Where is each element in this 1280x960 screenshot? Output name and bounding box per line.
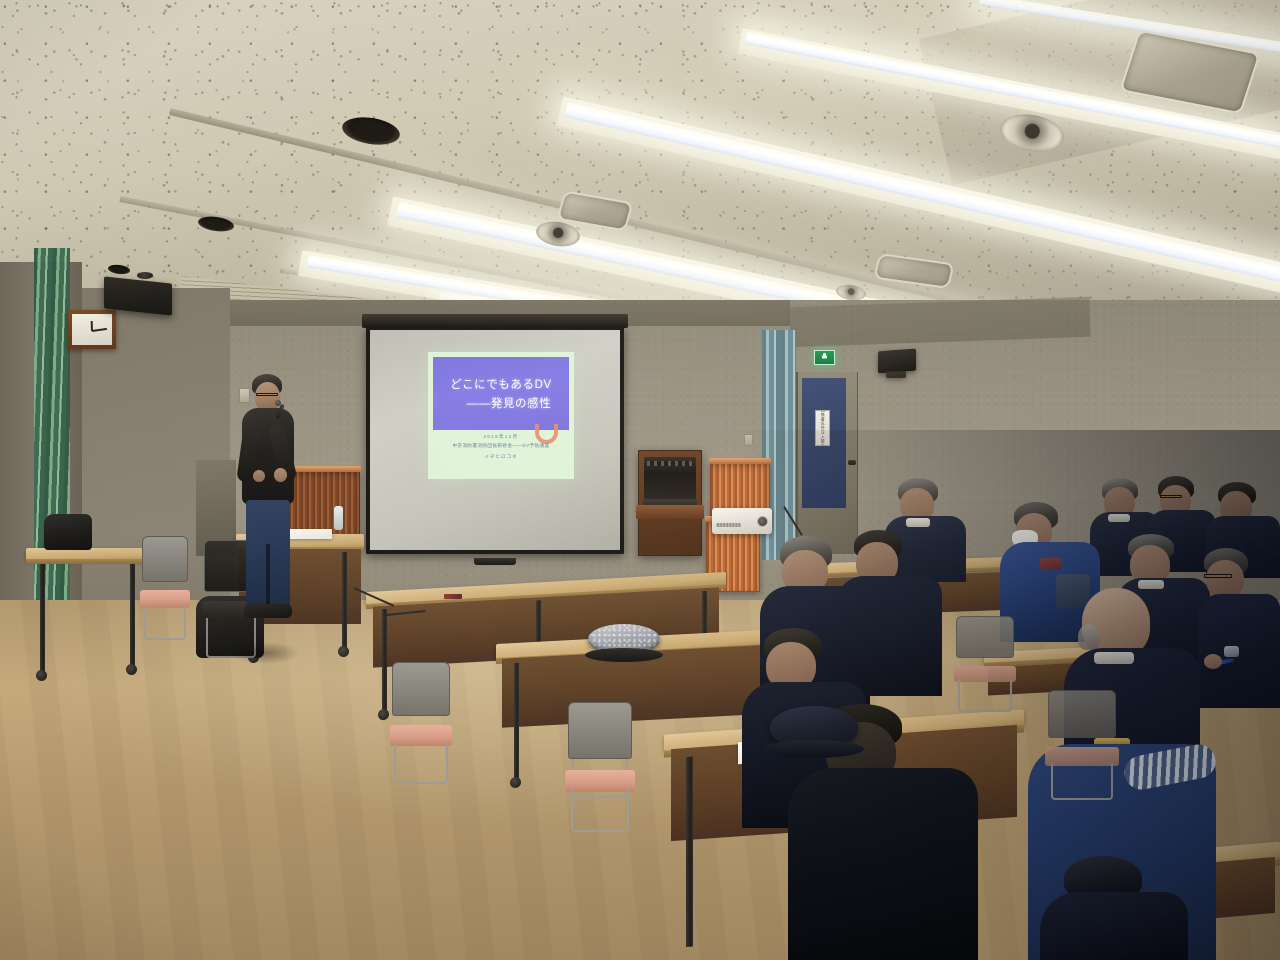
screen-bottom-weight <box>474 558 516 565</box>
room-door[interactable]: 関係者以外立入禁止 <box>796 372 858 554</box>
audience-member-2-collar <box>1108 514 1130 522</box>
door-notice-sign: 関係者以外立入禁止 <box>815 410 830 446</box>
slide-author: イヂヒロコネ <box>485 454 518 460</box>
audience-member-with-pen-glasses <box>1204 574 1232 578</box>
wall-clock <box>68 310 116 349</box>
audience-member-foreground-6-torso <box>1040 892 1188 960</box>
screen-surface: どこにでもあるDV ——発見の感性 2019年12月 中京消防署消防団長研修会—… <box>370 330 620 550</box>
presenter-leg-gap <box>266 544 270 608</box>
ceiling <box>0 0 1280 330</box>
presenter-table-caster-2 <box>338 646 349 657</box>
chair-row1-1-legs <box>394 743 447 784</box>
chair-right-2[interactable] <box>1048 690 1116 800</box>
audience-member-foreground-6 <box>1040 856 1190 960</box>
slide-title-block: どこにでもあるDV ——発見の感性 <box>433 357 569 430</box>
chair-row2-1[interactable] <box>568 702 632 832</box>
projector-vent <box>716 523 741 527</box>
speaker-wall-right <box>878 349 916 374</box>
presenter-shoes <box>244 604 292 618</box>
presenter-glasses <box>256 393 278 396</box>
chair-row2-1-legs <box>571 788 630 832</box>
chair-row1-1[interactable] <box>392 662 450 784</box>
slide-footer: 2019年12月 中京消防署消防団長研修会——DV予防講座 イヂヒロコネ <box>428 434 574 460</box>
chair-row2-1-back <box>568 702 632 759</box>
presenter <box>226 374 306 664</box>
peaked-cap-dark-brim <box>764 740 864 758</box>
chair-row1-1-back <box>392 662 450 716</box>
brigade-cap-silver-brim <box>585 648 663 662</box>
side-table-left <box>26 548 152 684</box>
audience-table-row-1-leg-1 <box>382 609 387 713</box>
photo-scene: 関係者以外立入禁止 どこにでもあるDV ——発見の感性 2019年12月 中京消… <box>0 0 1280 960</box>
chair-right-2-back <box>1048 690 1116 738</box>
presenter-hand-right <box>274 468 287 482</box>
video-projector[interactable] <box>712 508 772 534</box>
audience-table-row-2-caster-1 <box>510 777 521 789</box>
audience-member-1-collar <box>906 518 930 527</box>
speaker-wall-right-base <box>886 371 906 378</box>
chair-left-1[interactable] <box>142 536 188 640</box>
projector-stand-top <box>709 458 771 464</box>
exit-sign <box>814 350 835 365</box>
chair-right-1-back <box>956 616 1014 658</box>
side-table-left-caster-2 <box>126 664 137 675</box>
slide-event-title: 中京消防署消防団長研修会——DV予防講座 <box>452 443 549 449</box>
audience-table-row-1-caster-1 <box>378 709 389 721</box>
av-rack-led-row <box>647 461 693 466</box>
av-rack-face <box>644 457 696 499</box>
audience-member-foreground-4-torso <box>788 768 978 960</box>
speaker-ceiling-mount <box>137 272 153 279</box>
audience-member-with-pen-torso <box>1198 594 1280 708</box>
slide-title-line-2: ——発見の感性 <box>451 395 552 411</box>
clock-face <box>72 314 112 345</box>
audience-member-with-pen <box>1198 548 1280 708</box>
wall-outlet-plate-right[interactable] <box>744 434 753 446</box>
microphone-head-icon <box>275 400 281 406</box>
chair-right-1[interactable] <box>956 616 1014 712</box>
presenter-shadow <box>230 642 300 664</box>
clock-hour-hand <box>91 320 93 330</box>
side-table-left-leg-1 <box>40 564 45 674</box>
side-table-left-caster-1 <box>36 670 47 681</box>
clock-minute-hand <box>92 327 107 331</box>
jacket-shoulder-patch <box>1040 558 1062 570</box>
water-bottle[interactable] <box>334 506 343 530</box>
floor-marker-tape <box>444 594 462 599</box>
slide-title-line-1: どこにでもあるDV <box>450 376 552 392</box>
audience-table-row-4-leg-1 <box>686 757 693 947</box>
chair-right-1-legs <box>958 679 1011 712</box>
door-blue-panel: 関係者以外立入禁止 <box>802 378 846 508</box>
audience-member-bald-collar <box>1094 652 1134 664</box>
slide-date: 2019年12月 <box>484 434 519 440</box>
audience-member-bald-side-hair <box>1078 624 1100 650</box>
chair-left-1-back <box>142 536 188 582</box>
projector-lens <box>757 516 768 527</box>
chair-right-2-legs <box>1051 763 1114 800</box>
exit-running-figure-icon <box>822 353 827 362</box>
av-cabinet-worktop <box>636 505 704 519</box>
audience-table-row-2-leg-1 <box>514 663 519 781</box>
door-handle[interactable] <box>848 460 856 465</box>
presenter-table-leg-2 <box>342 552 347 650</box>
wristwatch <box>1224 646 1239 657</box>
door-notice-sign-text: 関係者以外立入禁止 <box>820 410 825 446</box>
bag-on-side-table[interactable] <box>44 514 92 550</box>
audience-member-3-glasses <box>1160 495 1182 498</box>
projected-slide: どこにでもあるDV ——発見の感性 2019年12月 中京消防署消防団長研修会—… <box>428 352 574 479</box>
side-table-left-leg-2 <box>130 564 135 668</box>
av-rack-cabinet[interactable] <box>638 450 702 556</box>
presenter-hand-left <box>253 470 265 482</box>
audience-member-with-pen-head <box>1206 560 1244 598</box>
chair-left-1-legs <box>144 605 186 640</box>
audience-member-with-pen-hand <box>1204 654 1222 669</box>
projection-screen-assembly: どこにでもあるDV ——発見の感性 2019年12月 中京消防署消防団長研修会—… <box>366 322 624 568</box>
